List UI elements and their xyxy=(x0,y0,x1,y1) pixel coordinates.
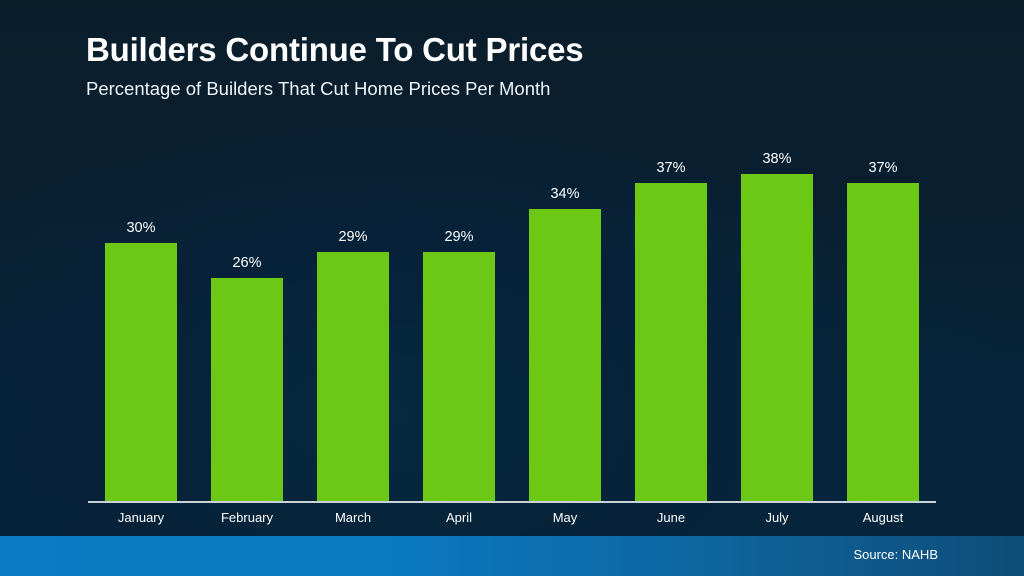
bar-group: 26% xyxy=(211,140,283,502)
bar-august xyxy=(847,183,919,502)
slide-canvas: Builders Continue To Cut Prices Percenta… xyxy=(0,0,1024,576)
bar-value-label: 29% xyxy=(423,229,495,245)
x-tick-july: July xyxy=(724,510,830,525)
x-tick-august: August xyxy=(830,510,936,525)
bar-group: 29% xyxy=(317,140,389,502)
x-tick-may: May xyxy=(512,510,618,525)
bar-february xyxy=(211,278,283,502)
bar-june xyxy=(635,183,707,502)
bar-value-label: 30% xyxy=(105,220,177,236)
bar-chart: 30%26%29%29%34%37%38%37% xyxy=(0,0,1024,576)
x-axis-tick-labels: JanuaryFebruaryMarchAprilMayJuneJulyAugu… xyxy=(88,510,936,532)
bar-value-label: 26% xyxy=(211,255,283,271)
bar-may xyxy=(529,209,601,502)
bar-group: 37% xyxy=(635,140,707,502)
x-axis-line xyxy=(88,501,936,503)
bar-group: 37% xyxy=(847,140,919,502)
x-tick-june: June xyxy=(618,510,724,525)
bar-april xyxy=(423,252,495,502)
bar-march xyxy=(317,252,389,502)
bar-july xyxy=(741,174,813,502)
source-attribution: Source: NAHB xyxy=(853,547,938,562)
x-tick-march: March xyxy=(300,510,406,525)
bar-value-label: 37% xyxy=(847,160,919,176)
bar-group: 30% xyxy=(105,140,177,502)
x-tick-april: April xyxy=(406,510,512,525)
bar-group: 34% xyxy=(529,140,601,502)
bar-january xyxy=(105,243,177,502)
bar-value-label: 34% xyxy=(529,186,601,202)
x-tick-february: February xyxy=(194,510,300,525)
bar-value-label: 38% xyxy=(741,151,813,167)
bar-group: 38% xyxy=(741,140,813,502)
bars-container: 30%26%29%29%34%37%38%37% xyxy=(88,140,936,502)
bar-group: 29% xyxy=(423,140,495,502)
bar-value-label: 29% xyxy=(317,229,389,245)
bar-value-label: 37% xyxy=(635,160,707,176)
x-tick-january: January xyxy=(88,510,194,525)
